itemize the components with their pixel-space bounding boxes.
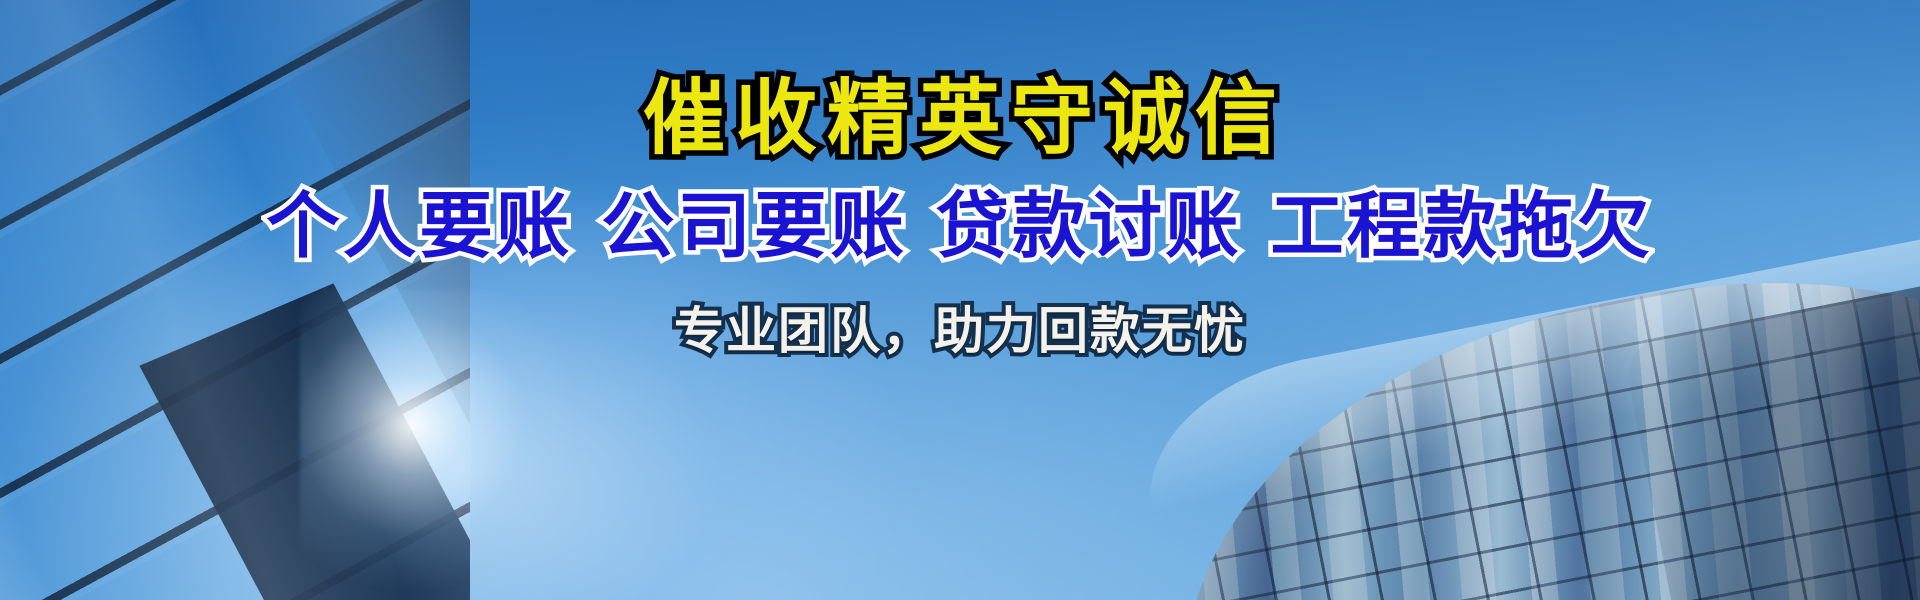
banner-text-stack: 催收精英守诚信 个人要账 公司要账 贷款讨账 工程款拖欠 专业团队，助力回款无忧 xyxy=(0,0,1920,600)
banner-services-line: 个人要账 公司要账 贷款讨账 工程款拖欠 xyxy=(267,190,1653,262)
banner-tagline: 专业团队，助力回款无忧 xyxy=(674,306,1246,356)
banner-headline: 催收精英守诚信 xyxy=(633,78,1287,160)
promotional-banner: 催收精英守诚信 个人要账 公司要账 贷款讨账 工程款拖欠 专业团队，助力回款无忧 xyxy=(0,0,1920,600)
